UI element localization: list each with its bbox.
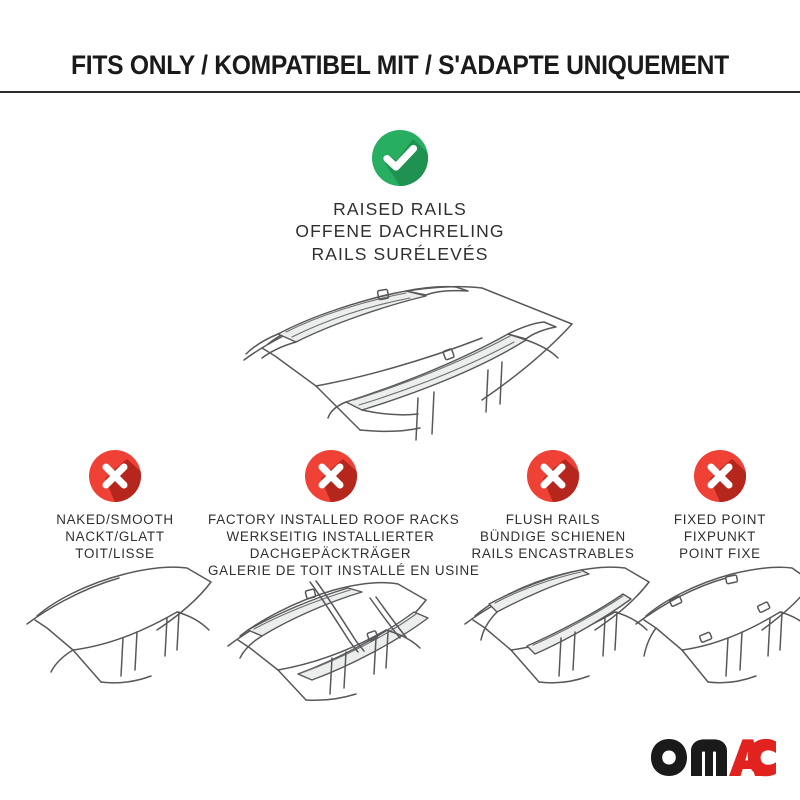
cross-circle-icon [527, 450, 579, 502]
incompatible-option-fixed-point: FIXED POINT FIXPUNKT POINT FIXE [640, 450, 800, 563]
incompatible-option-flush-rails: FLUSH RAILS BÜNDIGE SCHIENEN RAILS ENCAS… [448, 450, 658, 563]
option-label-de-1: WERKSEITIG INSTALLIERTER [208, 529, 453, 546]
compatible-label-de: OFFENE DACHRELING [0, 220, 800, 242]
option-label-en: FIXED POINT [640, 512, 800, 529]
raised-rails-illustration [0, 282, 800, 442]
option-label-de: NACKT/GLATT [10, 529, 220, 546]
cross-circle-icon [694, 450, 746, 502]
compatible-label-en: RAISED RAILS [0, 198, 800, 220]
cross-circle-icon [89, 450, 141, 502]
option-label-de: FIXPUNKT [640, 529, 800, 546]
option-label-de: BÜNDIGE SCHIENEN [448, 529, 658, 546]
option-label-de-2: DACHGEPÄCKTRÄGER [208, 546, 453, 563]
bare-roof-illustration [10, 554, 220, 689]
header-divider [0, 91, 800, 93]
header: FITS ONLY / KOMPATIBEL MIT / S'ADAPTE UN… [0, 0, 800, 92]
omac-logo [650, 738, 778, 778]
factory-crossbars-illustration [208, 568, 453, 703]
cross-circle-icon [305, 450, 357, 502]
page-title: FITS ONLY / KOMPATIBEL MIT / S'ADAPTE UN… [28, 50, 772, 81]
fixed-point-illustration [626, 554, 800, 689]
check-circle-icon [372, 130, 428, 186]
compatible-section: RAISED RAILS OFFENE DACHRELING RAILS SUR… [0, 130, 800, 265]
option-label-en: FLUSH RAILS [448, 512, 658, 529]
compatible-labels: RAISED RAILS OFFENE DACHRELING RAILS SUR… [0, 198, 800, 265]
incompatible-section: NAKED/SMOOTH NACKT/GLATT TOIT/LISSE [0, 450, 800, 700]
compatible-label-fr: RAILS SURÉLEVÉS [0, 243, 800, 265]
incompatible-option-factory-racks: FACTORY INSTALLED ROOF RACKS WERKSEITIG … [208, 450, 453, 580]
option-label-en: NAKED/SMOOTH [10, 512, 220, 529]
option-label-en: FACTORY INSTALLED ROOF RACKS [208, 512, 453, 529]
incompatible-option-naked-smooth: NAKED/SMOOTH NACKT/GLATT TOIT/LISSE [10, 450, 220, 563]
